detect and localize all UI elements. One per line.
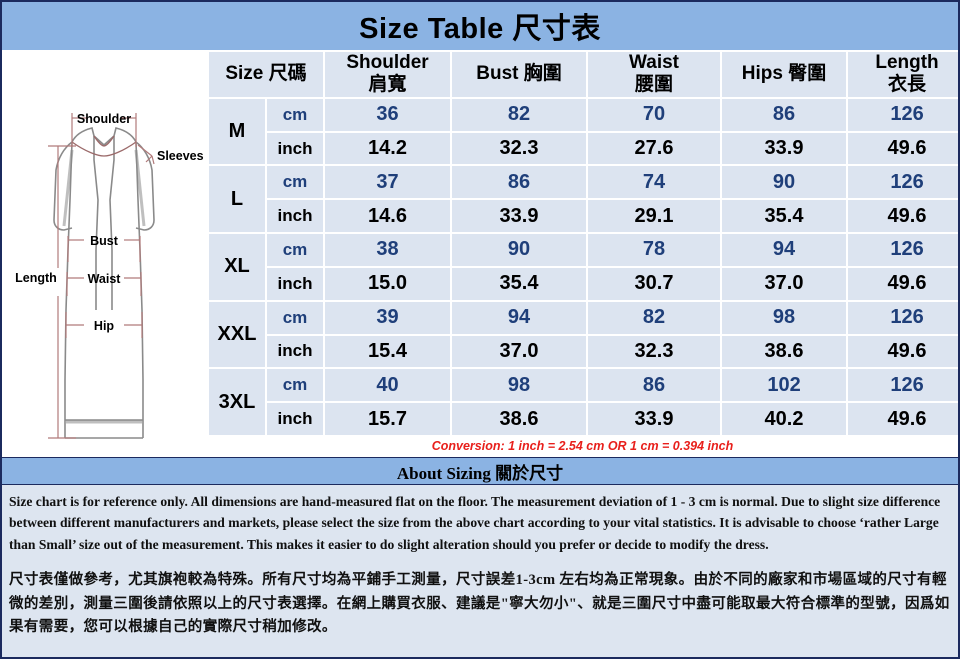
cell-length-inch: 49.6 (848, 200, 960, 232)
size-table-page: Size Table 尺寸表 (0, 0, 960, 659)
page-title: Size Table 尺寸表 (359, 5, 601, 47)
cell-hips-cm: 98 (722, 302, 846, 334)
column-header-length: Length 衣長 (848, 52, 960, 97)
cell-shoulder-inch: 15.7 (325, 403, 450, 435)
page-title-band: Size Table 尺寸表 (2, 2, 958, 50)
cell-bust-inch: 38.6 (452, 403, 586, 435)
table-header-row: Size 尺碼 Shoulder 肩寬 Bust 胸圍 Waist 腰圍 (209, 52, 960, 97)
cell-length-inch: 49.6 (848, 133, 960, 165)
unit-label-cm: cm (267, 234, 323, 266)
cell-waist-cm: 70 (588, 99, 720, 131)
cheongsam-diagram-svg: Shoulder Sleeves Bust Waist (2, 50, 207, 453)
cell-bust-inch: 37.0 (452, 336, 586, 368)
cell-length-cm: 126 (848, 369, 960, 401)
conversion-note: Conversion: 1 inch = 2.54 cm OR 1 cm = 0… (207, 439, 958, 455)
column-header-size: Size 尺碼 (209, 52, 323, 97)
cell-shoulder-cm: 36 (325, 99, 450, 131)
unit-label-inch: inch (267, 403, 323, 435)
cell-bust-cm: 94 (452, 302, 586, 334)
cell-hips-cm: 86 (722, 99, 846, 131)
cell-waist-cm: 74 (588, 166, 720, 198)
cell-length-inch: 49.6 (848, 403, 960, 435)
table-row: Mcm36827086126 (209, 99, 960, 131)
unit-label-cm: cm (267, 302, 323, 334)
cell-length-cm: 126 (848, 99, 960, 131)
about-sizing-heading: About Sizing 關於尺寸 (397, 459, 563, 484)
size-label-cell: XXL (209, 302, 265, 368)
diagram-label-sleeves: Sleeves (157, 149, 204, 163)
cell-hips-inch: 37.0 (722, 268, 846, 300)
unit-label-inch: inch (267, 200, 323, 232)
size-label-cell: M (209, 99, 265, 165)
table-row: inch15.437.032.338.649.6 (209, 336, 960, 368)
cell-shoulder-cm: 37 (325, 166, 450, 198)
cell-waist-cm: 78 (588, 234, 720, 266)
cell-waist-cm: 86 (588, 369, 720, 401)
diagram-label-waist: Waist (88, 272, 122, 286)
cell-shoulder-cm: 40 (325, 369, 450, 401)
table-row: inch15.738.633.940.249.6 (209, 403, 960, 435)
cell-hips-inch: 33.9 (722, 133, 846, 165)
cell-length-inch: 49.6 (848, 336, 960, 368)
diagram-label-length: Length (15, 271, 57, 285)
table-row: XLcm38907894126 (209, 234, 960, 266)
cell-length-cm: 126 (848, 234, 960, 266)
cell-hips-cm: 102 (722, 369, 846, 401)
cell-waist-inch: 32.3 (588, 336, 720, 368)
cell-hips-inch: 40.2 (722, 403, 846, 435)
table-row: inch15.035.430.737.049.6 (209, 268, 960, 300)
table-row: 3XLcm409886102126 (209, 369, 960, 401)
cell-shoulder-inch: 14.2 (325, 133, 450, 165)
cell-length-cm: 126 (848, 302, 960, 334)
size-label-cell: 3XL (209, 369, 265, 435)
diagram-label-shoulder: Shoulder (77, 112, 131, 126)
cell-bust-inch: 35.4 (452, 268, 586, 300)
cell-bust-cm: 98 (452, 369, 586, 401)
size-label-cell: XL (209, 234, 265, 300)
sizing-paragraph-chinese: 尺寸表僅做參考，尤其旗袍較為特殊。所有尺寸均為平鋪手工測量，尺寸誤差1-3cm … (9, 569, 951, 639)
cell-hips-inch: 35.4 (722, 200, 846, 232)
diagram-label-hip: Hip (94, 319, 115, 333)
cell-waist-inch: 27.6 (588, 133, 720, 165)
cell-bust-cm: 86 (452, 166, 586, 198)
unit-label-inch: inch (267, 133, 323, 165)
unit-label-inch: inch (267, 336, 323, 368)
column-header-bust: Bust 胸圍 (452, 52, 586, 97)
cell-bust-inch: 32.3 (452, 133, 586, 165)
cell-shoulder-inch: 14.6 (325, 200, 450, 232)
table-row: inch14.633.929.135.449.6 (209, 200, 960, 232)
cell-bust-cm: 90 (452, 234, 586, 266)
column-header-waist: Waist 腰圍 (588, 52, 720, 97)
unit-label-cm: cm (267, 369, 323, 401)
sizing-paragraph-english: Size chart is for reference only. All di… (9, 491, 951, 555)
cell-shoulder-inch: 15.4 (325, 336, 450, 368)
column-header-shoulder: Shoulder 肩寬 (325, 52, 450, 97)
table-row: Lcm37867490126 (209, 166, 960, 198)
cell-hips-cm: 90 (722, 166, 846, 198)
cell-bust-cm: 82 (452, 99, 586, 131)
cell-shoulder-cm: 39 (325, 302, 450, 334)
column-header-hips: Hips 臀圍 (722, 52, 846, 97)
measurement-diagram-panel: Shoulder Sleeves Bust Waist (2, 50, 207, 453)
cell-length-cm: 126 (848, 166, 960, 198)
size-table-container: Size 尺碼 Shoulder 肩寬 Bust 胸圍 Waist 腰圍 (207, 50, 958, 437)
cell-length-inch: 49.6 (848, 268, 960, 300)
cell-waist-inch: 29.1 (588, 200, 720, 232)
table-row: XXLcm39948298126 (209, 302, 960, 334)
diagram-label-bust: Bust (90, 234, 119, 248)
cell-hips-cm: 94 (722, 234, 846, 266)
cell-bust-inch: 33.9 (452, 200, 586, 232)
unit-label-cm: cm (267, 166, 323, 198)
cell-waist-cm: 82 (588, 302, 720, 334)
cell-waist-inch: 30.7 (588, 268, 720, 300)
about-sizing-band: About Sizing 關於尺寸 (2, 457, 958, 485)
about-sizing-body: Size chart is for reference only. All di… (2, 485, 958, 657)
size-label-cell: L (209, 166, 265, 232)
cell-hips-inch: 38.6 (722, 336, 846, 368)
table-row: inch14.232.327.633.949.6 (209, 133, 960, 165)
size-table: Size 尺碼 Shoulder 肩寬 Bust 胸圍 Waist 腰圍 (207, 50, 960, 437)
cell-waist-inch: 33.9 (588, 403, 720, 435)
unit-label-inch: inch (267, 268, 323, 300)
unit-label-cm: cm (267, 99, 323, 131)
cell-shoulder-inch: 15.0 (325, 268, 450, 300)
cell-shoulder-cm: 38 (325, 234, 450, 266)
